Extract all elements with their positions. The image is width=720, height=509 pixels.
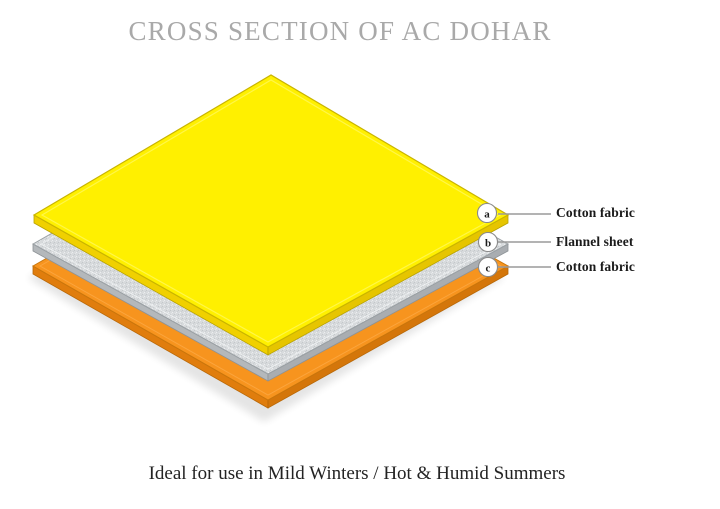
callout-label-a: Cotton fabric <box>556 205 635 221</box>
callout-label-b: Flannel sheet <box>556 234 633 250</box>
marker-letter-b: b <box>485 237 491 249</box>
diagram-caption: Ideal for use in Mild Winters / Hot & Hu… <box>0 463 714 485</box>
marker-letter-c: c <box>486 262 491 274</box>
marker-badge-a[interactable]: a <box>478 204 497 223</box>
layer-stack-illustration: a b c <box>0 0 720 509</box>
marker-letter-a: a <box>484 208 490 220</box>
callout-label-c: Cotton fabric <box>556 259 635 275</box>
marker-badge-c[interactable]: c <box>479 258 498 277</box>
marker-badge-b[interactable]: b <box>479 233 498 252</box>
